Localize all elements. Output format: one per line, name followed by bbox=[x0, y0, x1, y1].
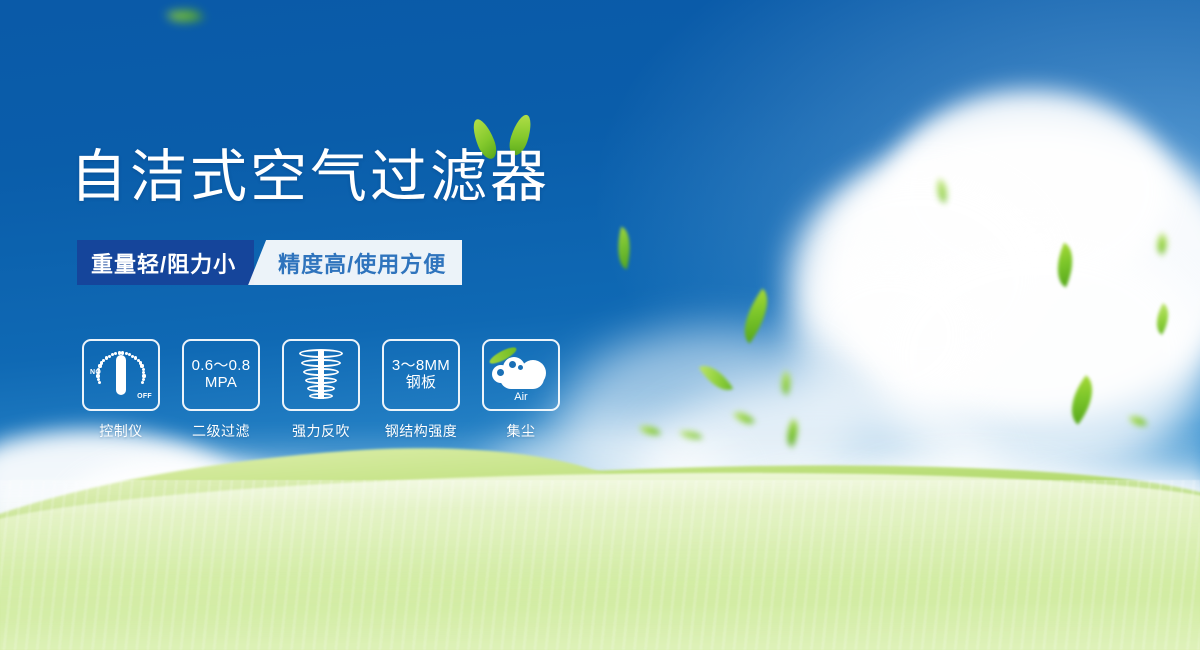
coil-ring bbox=[303, 368, 339, 376]
feature-item-pressure[interactable]: 0.6〜0.8 MPA 二级过滤 bbox=[182, 339, 260, 441]
cloud-notch bbox=[497, 369, 504, 376]
gauge-tick bbox=[97, 371, 100, 374]
gauge-needle bbox=[116, 355, 126, 395]
cloud-notch bbox=[509, 361, 516, 368]
gauge-tick bbox=[98, 364, 101, 367]
coil-ring bbox=[299, 349, 343, 358]
feature-item-steel[interactable]: 3〜8MM 钢板 钢结构强度 bbox=[382, 339, 460, 441]
gauge-label-off: OFF bbox=[137, 393, 152, 400]
feature-label: 二级过滤 bbox=[192, 421, 250, 441]
feature-box: 0.6〜0.8 MPA bbox=[182, 339, 260, 411]
coil-ring bbox=[307, 385, 335, 392]
gauge-tick bbox=[98, 381, 101, 384]
product-banner: 自洁式空气过滤器 重量轻/阻力小 精度高/使用方便 NO OFF 控制仪 0.6… bbox=[0, 0, 1200, 650]
feature-box: Air bbox=[482, 339, 560, 411]
feature-list: NO OFF 控制仪 0.6〜0.8 MPA 二级过滤 bbox=[82, 339, 560, 441]
feature-label: 控制仪 bbox=[99, 421, 143, 441]
coil-ring bbox=[305, 377, 337, 384]
cloud-body bbox=[500, 367, 544, 389]
feature-box bbox=[282, 339, 360, 411]
grass-texture bbox=[0, 480, 1200, 650]
feature-item-blowback[interactable]: 强力反吹 bbox=[282, 339, 360, 441]
subtitle-primary: 重量轻/阻力小 bbox=[77, 240, 254, 285]
coil-ring bbox=[301, 359, 341, 367]
cloud-notch bbox=[518, 365, 523, 370]
subtitle-secondary: 精度高/使用方便 bbox=[248, 240, 462, 285]
feature-item-controller[interactable]: NO OFF 控制仪 bbox=[82, 339, 160, 441]
feature-label: 强力反吹 bbox=[292, 421, 350, 441]
gauge-tick bbox=[141, 381, 144, 384]
feature-label: 集尘 bbox=[507, 421, 536, 441]
gauge-tick bbox=[114, 352, 117, 355]
subtitle-bar: 重量轻/阻力小 精度高/使用方便 bbox=[77, 240, 462, 285]
gauge-tick bbox=[96, 374, 99, 377]
pressure-icon: 0.6〜0.8 MPA bbox=[192, 358, 251, 392]
feature-item-dust[interactable]: Air 集尘 bbox=[482, 339, 560, 441]
air-cloud-icon: Air bbox=[490, 347, 552, 403]
feature-box: 3〜8MM 钢板 bbox=[382, 339, 460, 411]
feature-box: NO OFF bbox=[82, 339, 160, 411]
coil-ring bbox=[309, 393, 333, 399]
gauge-tick bbox=[97, 378, 100, 381]
leaf-icon bbox=[166, 3, 203, 29]
feature-label: 钢结构强度 bbox=[385, 421, 458, 441]
steelplate-icon: 3〜8MM 钢板 bbox=[392, 358, 450, 392]
leaf-icon bbox=[611, 227, 636, 270]
gauge-tick bbox=[121, 351, 124, 354]
coil-icon bbox=[295, 347, 347, 403]
gauge-icon: NO OFF bbox=[91, 346, 151, 404]
air-label: Air bbox=[490, 391, 552, 403]
page-title: 自洁式空气过滤器 bbox=[70, 148, 550, 206]
